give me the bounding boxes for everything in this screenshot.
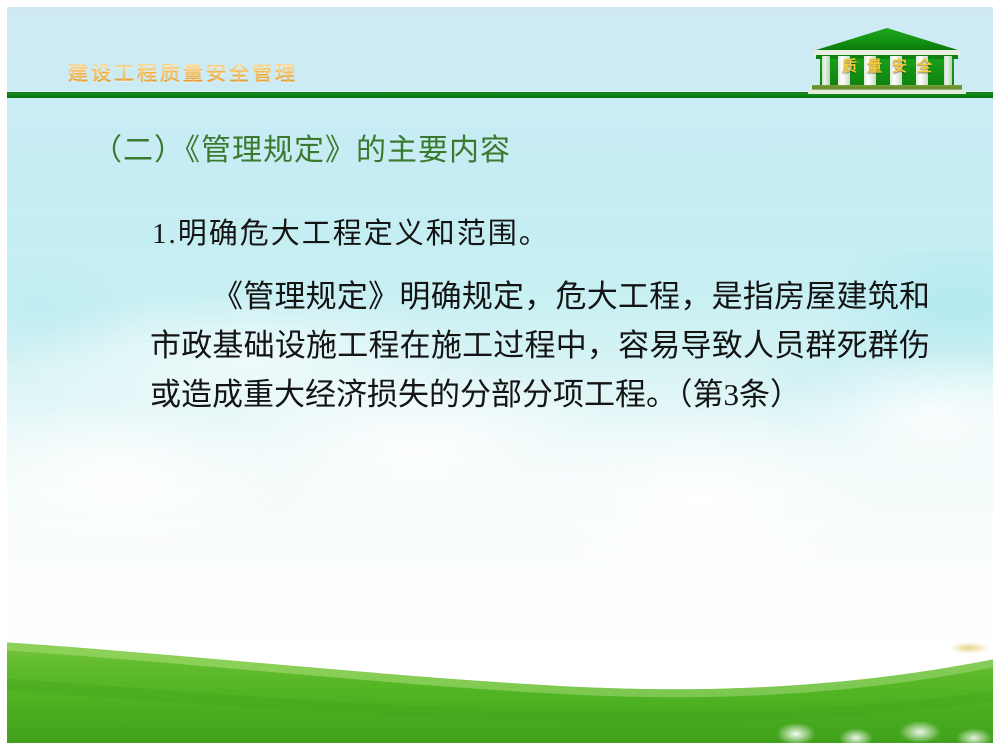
hill-white-flowers [760,712,1000,750]
content-point-1: 1.明确危大工程定义和范围。 [152,210,550,252]
content-paragraph: 《管理规定》明确规定，危大工程，是指房屋建筑和市政基础设施工程在施工过程中，容易… [150,272,930,419]
quality-safety-temple-logo: 质 量 安 全 [806,26,968,96]
header-title: 建设工程质量安全管理 [68,64,298,84]
slide-content: （二）《管理规定》的主要内容 1.明确危大工程定义和范围。 《管理规定》明确规定… [0,100,1000,660]
presentation-slide: 建设工程质量安全管理 [0,0,1000,750]
slide-title: （二）《管理规定》的主要内容 [92,125,511,169]
